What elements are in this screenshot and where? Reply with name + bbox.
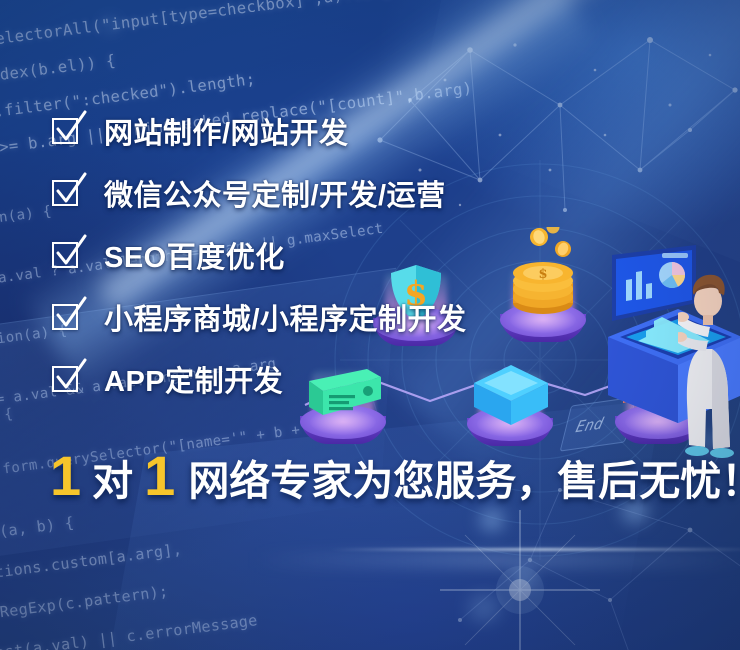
service-checklist: 网站制作/网站开发 微信公众号定制/开发/运营 SEO百度优化: [52, 100, 692, 410]
list-item-label: 网站制作/网站开发: [104, 110, 349, 152]
list-item-label: SEO百度优化: [104, 234, 285, 276]
headline-number-two: 1: [144, 448, 175, 504]
list-item-label: APP定制开发: [104, 358, 283, 400]
list-item[interactable]: SEO百度优化: [52, 224, 692, 286]
promo-headline: 1 对 1 网络专家为您服务，售后无忧！: [50, 448, 740, 504]
list-item[interactable]: 网站制作/网站开发: [52, 100, 692, 162]
bokeh-particle: [95, 15, 125, 35]
checkmark-icon: [51, 233, 91, 273]
checkbox-checked-icon[interactable]: [52, 240, 82, 270]
headline-word-dui: 对: [92, 461, 133, 502]
checkbox-checked-icon[interactable]: [52, 302, 82, 332]
list-item-label: 小程序商城/小程序定制开发: [104, 296, 467, 338]
checkbox-checked-icon[interactable]: [52, 116, 82, 146]
checkmark-icon: [51, 171, 91, 211]
list-item[interactable]: 微信公众号定制/开发/运营: [52, 162, 692, 224]
checkbox-checked-icon[interactable]: [52, 364, 82, 394]
checkmark-icon: [51, 109, 91, 149]
checkbox-checked-icon[interactable]: [52, 178, 82, 208]
checkmark-icon: [51, 357, 91, 397]
checkmark-icon: [51, 295, 91, 335]
service-promo-banner: querySelectorAll("input[type=checkbox]",…: [0, 0, 740, 650]
headline-tail-text: 网络专家为您服务，售后无忧！: [188, 461, 740, 502]
lens-flare-icon: [430, 500, 610, 650]
headline-number-one: 1: [50, 448, 81, 504]
list-item[interactable]: 小程序商城/小程序定制开发: [52, 286, 692, 348]
list-item[interactable]: APP定制开发: [52, 348, 692, 410]
list-item-label: 微信公众号定制/开发/运营: [104, 172, 446, 214]
